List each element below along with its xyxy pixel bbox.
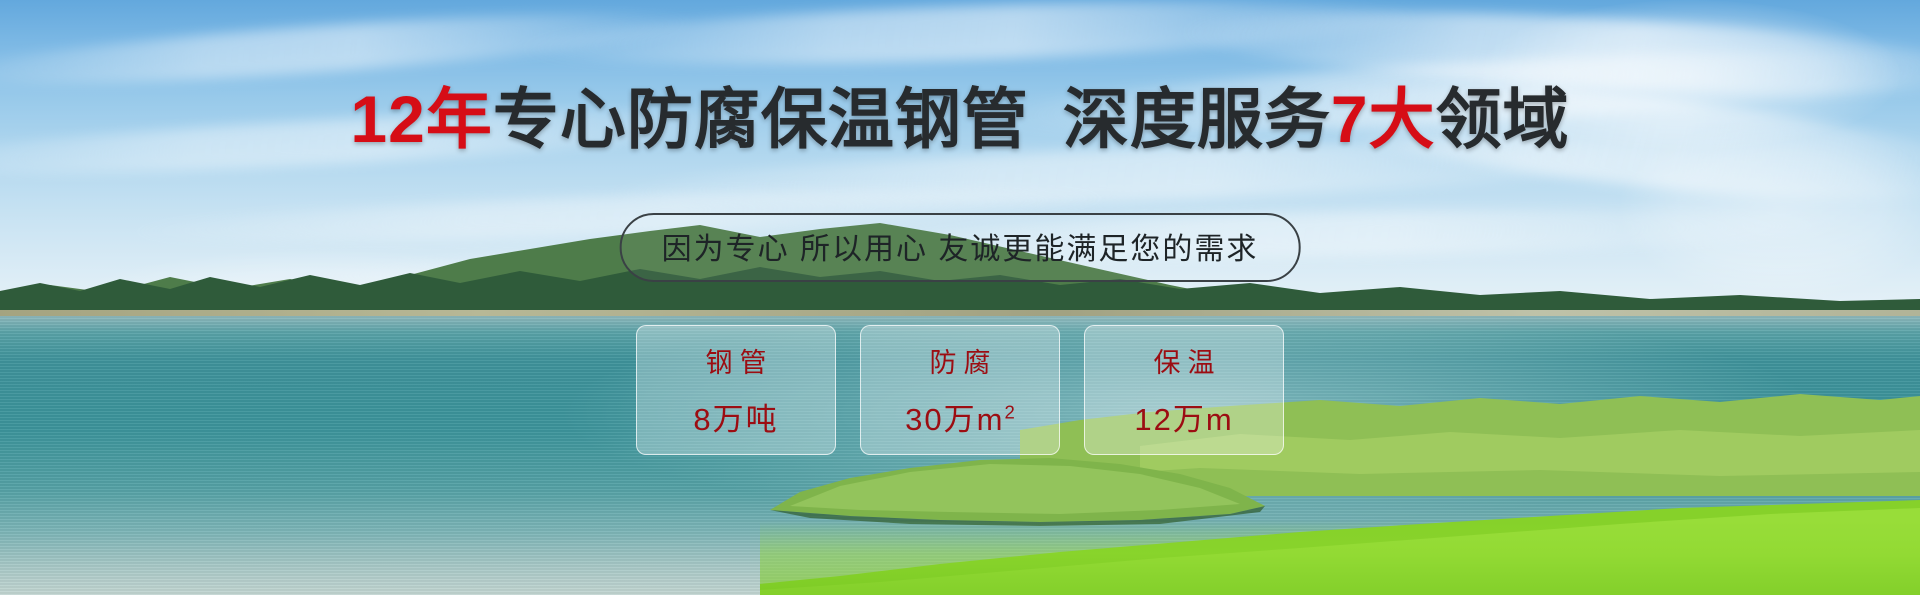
stat-card-insulation[interactable]: 保温 12万m — [1084, 325, 1284, 455]
stat-value-superscript: 2 — [1004, 402, 1014, 423]
stat-card-steel-pipe[interactable]: 钢管 8万吨 — [636, 325, 836, 455]
stat-caption: 防腐 — [923, 341, 998, 380]
subtitle-pill: 因为专心 所以用心 友诚更能满足您的需求 — [620, 213, 1301, 282]
headline-fields: 领域 — [1436, 82, 1570, 156]
stat-card-anticorrosion[interactable]: 防腐 30万m2 — [860, 325, 1060, 455]
headline-main: 专心防腐保温钢管 — [493, 82, 1029, 156]
hero-banner: 12年专心防腐保温钢管深度服务7大领域 因为专心 所以用心 友诚更能满足您的需求… — [0, 0, 1920, 595]
stat-caption: 保温 — [1147, 341, 1222, 380]
page-title: 12年专心防腐保温钢管深度服务7大领域 — [0, 86, 1920, 152]
headline-years: 12年 — [350, 82, 492, 156]
headline-seven: 7大 — [1331, 82, 1436, 156]
stat-value: 8万吨 — [693, 394, 778, 439]
grass-edge-highlight — [760, 520, 1920, 595]
stat-value-text: 8万吨 — [693, 402, 778, 437]
stat-value-text: 30万m — [905, 402, 1004, 437]
stat-value: 30万m2 — [905, 394, 1015, 439]
stat-card-group: 钢管 8万吨 防腐 30万m2 保温 12万m — [636, 325, 1284, 455]
stat-value: 12万m — [1134, 394, 1233, 439]
stat-caption: 钢管 — [699, 341, 774, 380]
stat-value-text: 12万m — [1134, 402, 1233, 437]
headline-service: 深度服务 — [1063, 82, 1331, 156]
